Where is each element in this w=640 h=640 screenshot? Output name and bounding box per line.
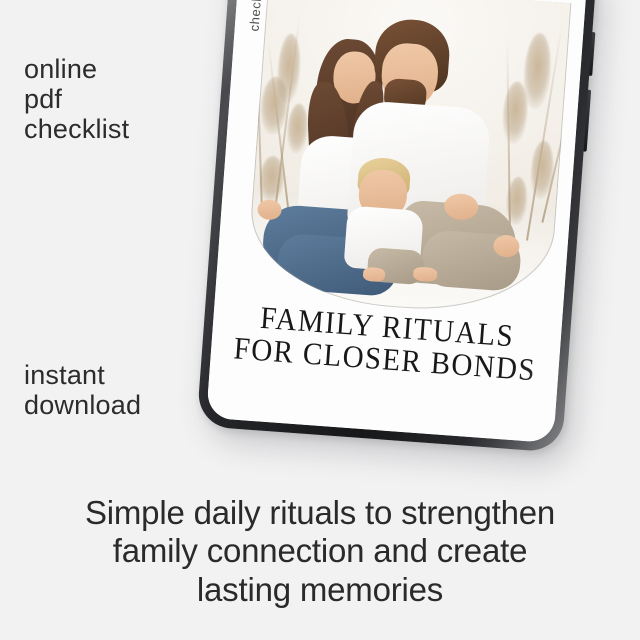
tablet-screen[interactable]: checklist + free bonus [206,0,588,443]
pdf-cover-page: checklist + free bonus [206,0,588,443]
cover-vertical-label: checklist [247,0,266,32]
poster-canvas: online pdf checklist instant download ch… [0,0,640,640]
poster-caption: Simple daily rituals to strengthen famil… [0,494,640,609]
family-photo-inner [245,0,571,318]
feature-online-pdf-checklist: online pdf checklist [24,54,129,145]
family-photo [245,0,571,318]
feature-instant-download: instant download [24,360,141,420]
tablet-mockup: checklist + free bonus [196,0,597,453]
tablet-frame: checklist + free bonus [196,0,597,453]
